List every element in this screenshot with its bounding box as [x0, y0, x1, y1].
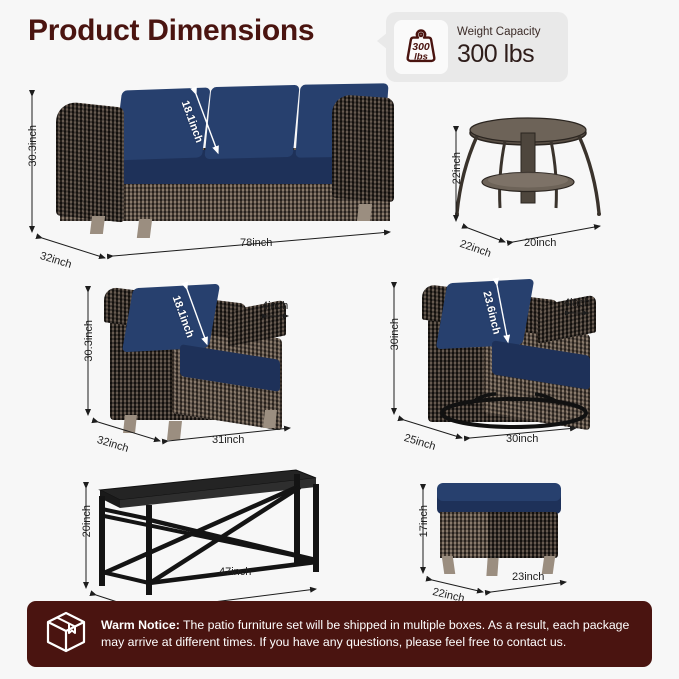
package-box-icon [45, 610, 87, 659]
warm-notice-label: Warm Notice: [101, 618, 180, 632]
warm-notice-body: The patio furniture set will be shipped … [101, 618, 629, 649]
ottoman-height-label: 17inch [418, 505, 430, 537]
package-box-icon-svg [45, 610, 87, 654]
infographic-canvas: Product Dimensions 300 lbs Weight Capaci… [0, 0, 679, 679]
warm-notice-text: Warm Notice: The patio furniture set wil… [101, 617, 638, 652]
ottoman-width-label: 23inch [512, 571, 544, 583]
ottoman-dimension-lines [0, 0, 679, 679]
warm-notice-banner: Warm Notice: The patio furniture set wil… [27, 601, 652, 667]
